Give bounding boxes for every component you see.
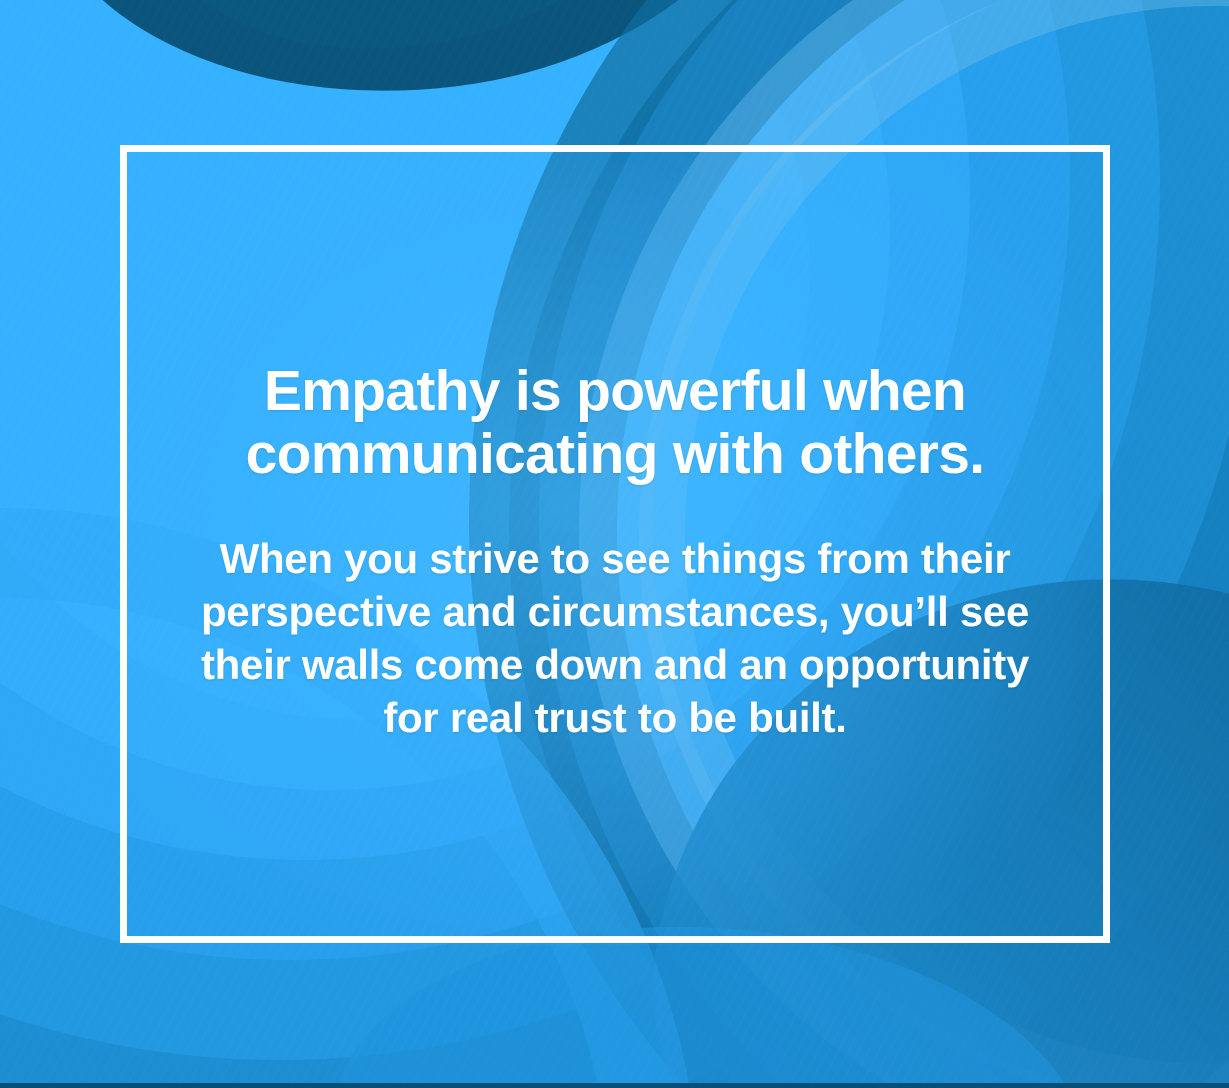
background-blob-top-dark: [1, 0, 819, 134]
background-bottom-strip: [0, 1083, 1229, 1088]
quote-card: Empathy is powerful when communicating w…: [0, 0, 1229, 1088]
quote-body-text: When you strive to see things from their…: [200, 532, 1030, 744]
background-blob-top-dark-inner: [125, 0, 694, 88]
quote-headline: Empathy is powerful when communicating w…: [170, 360, 1060, 486]
quote-text-block: Empathy is powerful when communicating w…: [170, 360, 1060, 744]
